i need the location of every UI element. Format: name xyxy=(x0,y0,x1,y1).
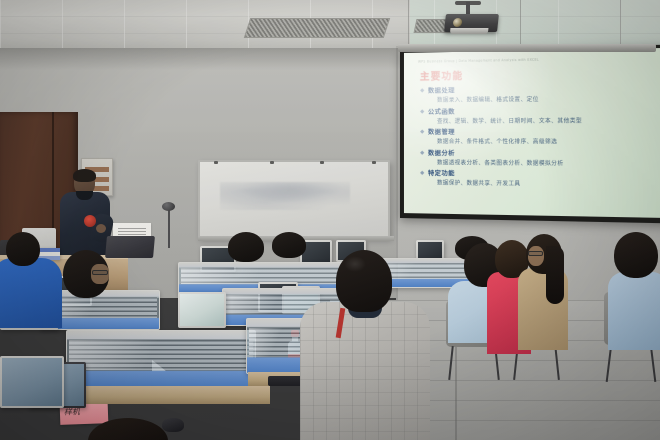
slide-section-heading: 数据管理 xyxy=(419,127,659,137)
student-torso xyxy=(0,258,62,328)
presenter-hair xyxy=(73,169,96,182)
attendee-long-hair xyxy=(546,246,564,304)
partition-glass-reflection xyxy=(69,340,253,370)
classroom-photo: WPS Business Group | Data Management and… xyxy=(0,0,660,440)
slide-section: 特定功能 数据保护、数据共享、开发工具 xyxy=(419,168,659,189)
attendee-torso xyxy=(608,272,660,350)
slide-section-detail: 数据透视表分析、各类图表分析、数据模拟分析 xyxy=(419,158,659,168)
slide-section-heading: 数据分析 xyxy=(419,148,659,158)
slide-section-detail: 查找、逻辑、数学、统计、日期时间、文本、其他类型 xyxy=(419,115,659,124)
whiteboard-clip xyxy=(372,161,376,164)
whiteboard-erased-writing xyxy=(220,182,350,210)
projection-screen: WPS Business Group | Data Management and… xyxy=(400,45,660,224)
presenter-hand xyxy=(96,224,106,233)
wall-top-shadow xyxy=(0,48,400,70)
chair-leg xyxy=(448,346,454,380)
attendee-face xyxy=(528,246,544,266)
slide-section: 公式函数 查找、逻辑、数学、统计、日期时间、文本、其他类型 xyxy=(419,105,659,125)
blazer-check-pattern xyxy=(300,302,430,440)
attendee-right-side-man xyxy=(608,232,660,348)
slide-section: 数据处理 数据录入、数据编辑、格式设置、定位 xyxy=(419,83,659,104)
foreground-man-gray-blazer xyxy=(300,250,430,440)
monitor-screen xyxy=(180,294,224,326)
projection-screen-roller xyxy=(398,44,656,52)
attendee-head xyxy=(614,232,658,278)
back-row-head xyxy=(228,232,264,262)
slide-section-heading: 公式函数 xyxy=(419,105,659,116)
attendee-tan-jacket xyxy=(516,234,568,350)
monitor-screen xyxy=(2,358,62,406)
desk-partition xyxy=(66,330,256,388)
whiteboard-clip xyxy=(214,161,218,164)
student-with-glasses xyxy=(55,250,117,308)
eyeglasses-icon xyxy=(92,270,108,275)
slide-title: 主要功能 xyxy=(420,68,463,83)
whiteboard-clip xyxy=(320,161,324,164)
slide-header-text: WPS Business Group | Data Management and… xyxy=(418,56,655,64)
slide-section-detail: 数据保护、数据共享、开发工具 xyxy=(419,178,659,189)
hair-highlight xyxy=(344,256,366,272)
eyeglasses-icon xyxy=(528,251,543,256)
slide-section: 数据分析 数据透视表分析、各类图表分析、数据模拟分析 xyxy=(419,148,659,168)
lab-monitor xyxy=(178,292,226,328)
student-blue-jacket xyxy=(0,248,62,328)
slide-section-detail: 数据合并、条件格式、个性化排序、高级筛选 xyxy=(419,137,659,146)
slide-section-detail: 数据录入、数据编辑、格式设置、定位 xyxy=(419,94,659,104)
ceiling-vent-icon xyxy=(244,18,390,38)
whiteboard-clip xyxy=(270,161,274,164)
lab-monitor xyxy=(0,356,64,408)
student-head xyxy=(6,232,40,266)
projection-screen-surface: WPS Business Group | Data Management and… xyxy=(404,48,660,218)
projector-lens-icon xyxy=(453,18,463,27)
microphone-icon xyxy=(162,202,175,211)
slide-section: 数据管理 数据合并、条件格式、个性化排序、高级筛选 xyxy=(419,127,659,146)
microphone-stand xyxy=(168,208,170,248)
computer-mouse xyxy=(162,418,184,432)
whiteboard xyxy=(198,160,390,238)
presenter-shirt-logo xyxy=(84,215,96,227)
ceiling-projector xyxy=(444,14,499,32)
slide-body: 数据处理 数据录入、数据编辑、格式设置、定位 公式函数 查找、逻辑、数学、统计、… xyxy=(419,83,659,192)
